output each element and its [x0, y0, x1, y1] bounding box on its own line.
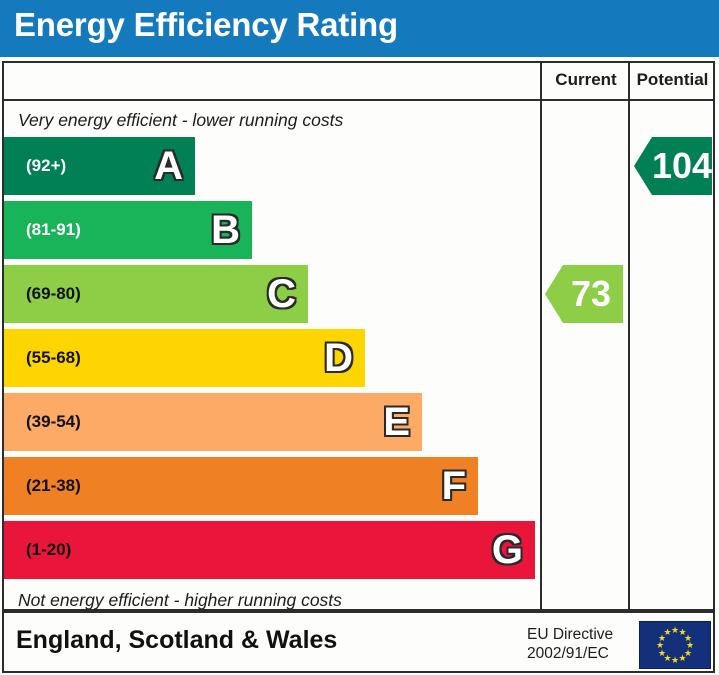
- energy-efficiency-rating-chart: Energy Efficiency Rating Current Potenti…: [0, 0, 719, 675]
- footer-directive-label: EU Directive 2002/91/EC: [527, 625, 613, 663]
- column-divider-potential: [628, 61, 630, 611]
- rating-band-a: (92+)A: [4, 137, 195, 195]
- band-letter-f: F: [442, 466, 466, 506]
- rating-band-c: (69-80)C: [4, 265, 308, 323]
- footer-region-label: England, Scotland & Wales: [16, 626, 337, 655]
- eu-flag-icon: ★★★★★★★★★★★★: [639, 621, 711, 669]
- rating-band-f: (21-38)F: [4, 457, 478, 515]
- band-range-label-d: (55-68): [26, 348, 81, 368]
- band-letter-d: D: [324, 338, 353, 378]
- band-letter-g: G: [492, 530, 523, 570]
- band-letter-c: C: [267, 274, 296, 314]
- band-letter-a: A: [154, 146, 183, 186]
- column-header-potential: Potential: [630, 61, 715, 99]
- band-range-label-a: (92+): [26, 156, 66, 176]
- eu-flag-star: ★: [664, 628, 672, 636]
- caption-very-efficient: Very energy efficient - lower running co…: [18, 110, 343, 131]
- rating-band-g: (1-20)G: [4, 521, 535, 579]
- band-range-label-f: (21-38): [26, 476, 81, 496]
- caption-not-efficient: Not energy efficient - higher running co…: [18, 590, 342, 611]
- eu-flag-star: ★: [671, 656, 679, 664]
- column-divider-current: [540, 61, 542, 611]
- chart-title-bar: Energy Efficiency Rating: [0, 0, 719, 57]
- potential-rating-value: 104: [652, 148, 708, 184]
- band-range-label-e: (39-54): [26, 412, 81, 432]
- band-range-label-g: (1-20): [26, 540, 71, 560]
- band-range-label-c: (69-80): [26, 284, 81, 304]
- footer-directive-line1: EU Directive: [527, 625, 613, 644]
- current-rating-value: 73: [563, 276, 619, 312]
- column-header-current: Current: [542, 61, 630, 99]
- column-header-row: Current Potential: [2, 61, 715, 101]
- rating-band-e: (39-54)E: [4, 393, 422, 451]
- page-title: Energy Efficiency Rating: [14, 6, 398, 44]
- rating-band-d: (55-68)D: [4, 329, 365, 387]
- eu-flag-star: ★: [679, 654, 687, 662]
- band-letter-b: B: [211, 210, 240, 250]
- footer-directive-line2: 2002/91/EC: [527, 644, 613, 663]
- band-range-label-b: (81-91): [26, 220, 81, 240]
- band-letter-e: E: [383, 402, 410, 442]
- rating-band-b: (81-91)B: [4, 201, 252, 259]
